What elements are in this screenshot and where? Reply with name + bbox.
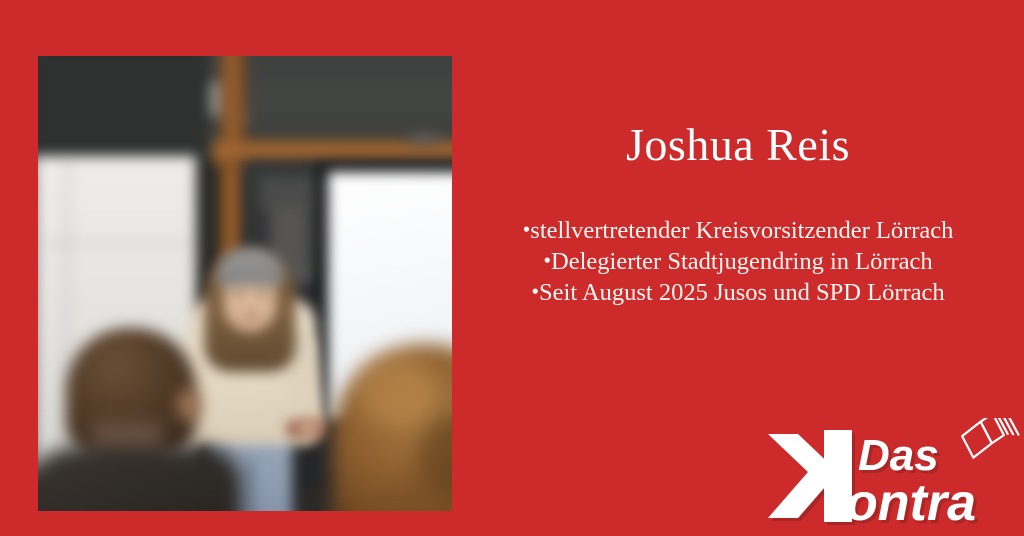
photo-speaker-mouth (243, 314, 259, 319)
bullet-icon: • (543, 248, 551, 273)
photo-flipchart-line-horizontal (42, 242, 192, 245)
presentation-photo (38, 56, 452, 511)
logo-word-ontra: ontra (846, 474, 976, 528)
logo-k-mark (768, 430, 852, 522)
photo-upper-left-wall (38, 56, 208, 156)
poster-canvas: Joshua Reis •stellvertretender Kreisvors… (0, 0, 1024, 536)
list-item: •Delegierter Stadtjugendring in Lörrach (452, 246, 1024, 277)
list-item-label: stellvertretender Kreisvorsitzender Lörr… (530, 217, 953, 244)
photo-speaker-left-eye (234, 290, 243, 295)
logo-word-das: Das (858, 431, 939, 480)
page-title: Joshua Reis (452, 120, 1024, 171)
das-kontra-logo: Das ontra (762, 418, 1020, 528)
photo-audience-left-jacket (38, 446, 242, 511)
open-book-icon (958, 418, 1020, 459)
photo-speaker-jeans-seam (247, 460, 253, 511)
list-item: •Seit August 2025 Jusos und SPD Lörrach (452, 277, 1024, 308)
photo-wall-sign (410, 134, 440, 144)
text-column: Joshua Reis •stellvertretender Kreisvors… (452, 120, 1024, 309)
bullet-icon: • (531, 279, 539, 304)
list-item-label: Seit August 2025 Jusos und SPD Lörrach (539, 279, 945, 306)
list-item-label: Delegierter Stadtjugendring in Lörrach (551, 248, 933, 275)
photo-speaker-right-eye (258, 290, 267, 295)
photo-audience-right-curl-1 (356, 356, 436, 426)
credentials-list: •stellvertretender Kreisvorsitzender Lör… (452, 215, 1024, 309)
list-item: •stellvertretender Kreisvorsitzender Lör… (452, 215, 1024, 246)
photo-audience-left-ear (178, 390, 200, 420)
photo-speaker-hand (296, 418, 320, 438)
